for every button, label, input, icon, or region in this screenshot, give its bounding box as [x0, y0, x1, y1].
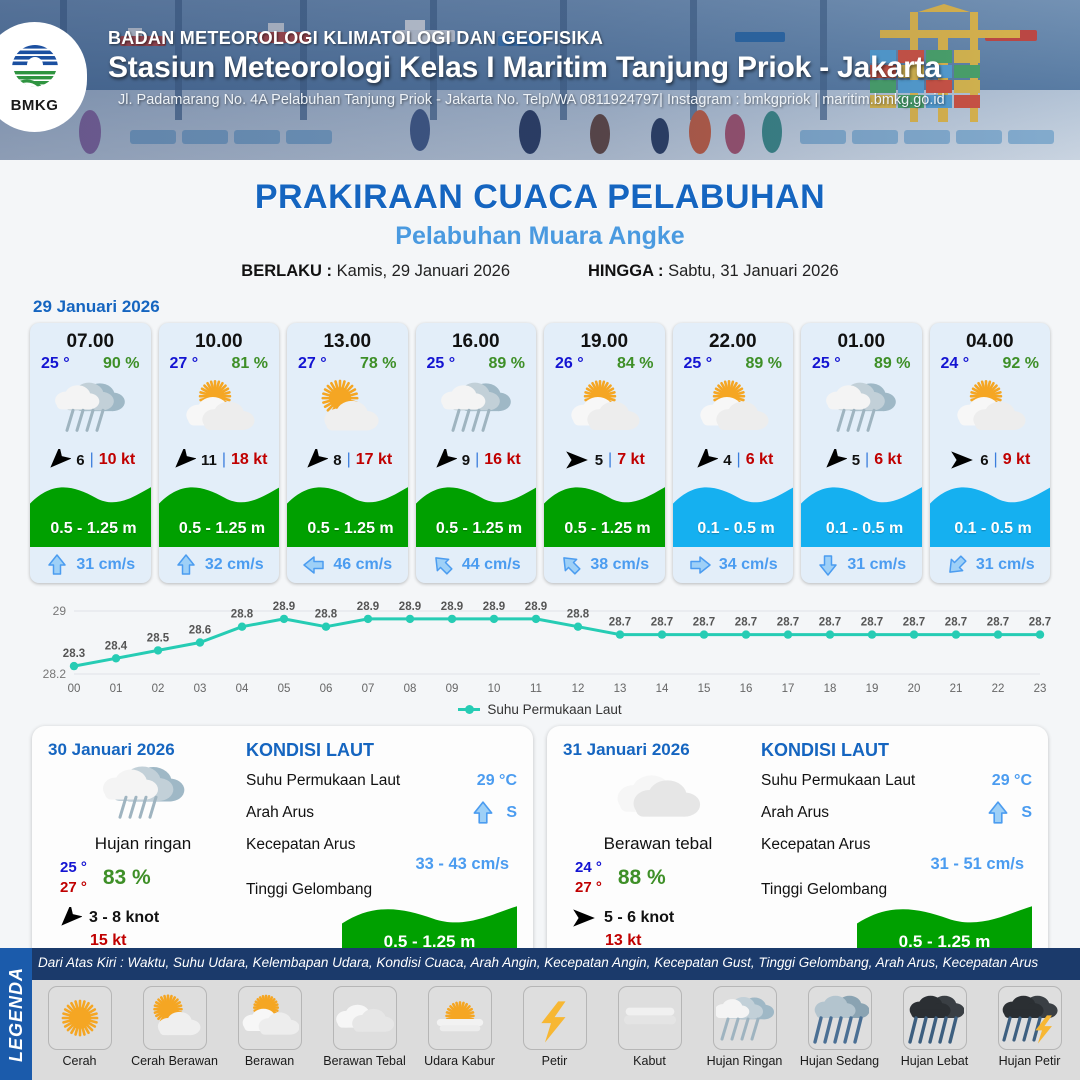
card-current-speed: 44 cm/s — [462, 556, 521, 574]
card-temperature: 24 ° — [941, 355, 970, 373]
svg-text:00: 00 — [68, 683, 81, 695]
svg-text:29: 29 — [53, 604, 67, 618]
current-direction-arrow-icon — [559, 553, 583, 577]
legend-item: Berawan Tebal — [317, 986, 412, 1068]
current-direction-arrow-icon — [688, 553, 712, 577]
card-time: 01.00 — [801, 323, 922, 353]
card-wind-separator: | — [222, 451, 226, 469]
svg-text:28.8: 28.8 — [567, 609, 590, 621]
legend-side-label: LEGENDA — [0, 948, 32, 1080]
card-time: 19.00 — [544, 323, 665, 353]
wind-direction-arrow-icon — [302, 449, 328, 471]
station-address: Jl. Padamarang No. 4A Pelabuhan Tanjung … — [118, 92, 1068, 108]
card-current: 44 cm/s — [416, 547, 537, 583]
svg-text:15: 15 — [698, 683, 711, 695]
card-current: 31 cm/s — [801, 547, 922, 583]
svg-text:21: 21 — [950, 683, 963, 695]
hujan-ringan-icon — [48, 764, 238, 828]
card-wind-speed: 7 kt — [617, 451, 645, 469]
legend-item-label: Petir — [507, 1054, 602, 1068]
hujan-ringan-icon — [713, 986, 777, 1050]
svg-text:28.3: 28.3 — [63, 648, 85, 660]
card-wind: 9 | 16 kt — [416, 445, 537, 475]
card-wind-separator: | — [994, 451, 998, 469]
card-humidity: 84 % — [617, 355, 653, 373]
current-direction-arrow-icon — [431, 553, 455, 577]
svg-text:05: 05 — [278, 683, 291, 695]
svg-text:06: 06 — [320, 683, 333, 695]
petir-icon — [523, 986, 587, 1050]
svg-text:12: 12 — [572, 683, 585, 695]
svg-text:02: 02 — [152, 683, 165, 695]
svg-text:23: 23 — [1034, 683, 1047, 695]
berawan-tebal-icon — [563, 764, 753, 828]
legend-item: Cerah Berawan — [127, 986, 222, 1068]
card-temperature: 25 ° — [427, 355, 456, 373]
card-current: 34 cm/s — [673, 547, 794, 583]
legend-item-label: Cerah — [32, 1054, 127, 1068]
current-speed-value: 33 - 43 cm/s — [246, 855, 509, 874]
current-direction-arrow-icon — [302, 553, 326, 577]
daily-wind-value: 3 - 8 knot — [89, 909, 159, 927]
current-direction-value: S — [1021, 804, 1032, 822]
legend-item-label: Kabut — [602, 1054, 697, 1068]
card-wind-separator: | — [865, 451, 869, 469]
berawan-icon — [673, 373, 794, 445]
card-wave-height: 0.1 - 0.5 m — [801, 520, 922, 538]
card-humidity: 78 % — [360, 355, 396, 373]
svg-text:01: 01 — [110, 683, 123, 695]
kabut-icon — [618, 986, 682, 1050]
svg-text:09: 09 — [446, 683, 459, 695]
current-direction-arrow-icon — [816, 553, 840, 577]
sst-chart: 29 28.2 28.328.428.528.628.828.928.828.9… — [26, 595, 1054, 700]
svg-text:28.7: 28.7 — [1029, 617, 1051, 629]
card-wave-height: 0.5 - 1.25 m — [287, 520, 408, 538]
card-wind-separator: | — [90, 451, 94, 469]
valid-until: HINGGA : Sabtu, 31 Januari 2026 — [588, 262, 839, 281]
card-wave: 0.5 - 1.25 m — [159, 477, 280, 547]
svg-text:28.7: 28.7 — [777, 617, 799, 629]
berawan-icon — [159, 373, 280, 445]
svg-text:28.7: 28.7 — [609, 617, 631, 629]
sst-label: Suhu Permukaan Laut — [761, 772, 915, 790]
card-humidity: 90 % — [103, 355, 139, 373]
daily-sea-conditions: KONDISI LAUT Suhu Permukaan Laut 29 °C A… — [753, 740, 1032, 962]
daily-temp-min: 24 ° — [575, 858, 602, 878]
hourly-card: 07.00 25 ° 90 % 6 | 10 kt — [30, 323, 151, 583]
daily-forecast-panels: 30 Januari 2026 Hujan ringan 25 ° 27 ° 8… — [0, 726, 1080, 976]
hujan-petir-icon — [998, 986, 1062, 1050]
hujan-ringan-icon — [30, 373, 151, 445]
sst-line-chart: 29 28.2 28.328.428.528.628.828.928.828.9… — [26, 595, 1054, 700]
bmkg-logo-text: BMKG — [11, 97, 59, 114]
svg-text:28.7: 28.7 — [819, 617, 841, 629]
svg-text:28.9: 28.9 — [273, 601, 295, 613]
hujan-lebat-icon — [903, 986, 967, 1050]
daily-humidity: 83 % — [103, 866, 151, 890]
sea-conditions-title: KONDISI LAUT — [246, 740, 517, 761]
legend-bar: LEGENDA Dari Atas Kiri : Waktu, Suhu Uda… — [0, 948, 1080, 1080]
card-current: 46 cm/s — [287, 547, 408, 583]
forecast-title-block: PRAKIRAAN CUACA PELABUHAN Pelabuhan Muar… — [0, 178, 1080, 281]
card-temperature: 25 ° — [812, 355, 841, 373]
daily-temp-min: 25 ° — [60, 858, 87, 878]
card-wind-speed: 16 kt — [484, 451, 520, 469]
card-humidity: 89 % — [746, 355, 782, 373]
card-wind-direction: 9 — [462, 452, 470, 469]
current-speed-label: Kecepatan Arus — [761, 836, 870, 854]
legend-item: Berawan — [222, 986, 317, 1068]
hujan-ringan-icon — [801, 373, 922, 445]
card-temperature: 27 ° — [298, 355, 327, 373]
svg-text:11: 11 — [530, 683, 542, 695]
card-current: 31 cm/s — [930, 547, 1051, 583]
sea-conditions-title: KONDISI LAUT — [761, 740, 1032, 761]
wind-direction-arrow-icon — [692, 449, 718, 471]
svg-text:28.5: 28.5 — [147, 632, 170, 644]
daily-condition: Hujan ringan — [48, 834, 238, 854]
sst-value: 29 °C — [477, 772, 517, 790]
legend-side-text: LEGENDA — [6, 966, 27, 1061]
legend-item: Petir — [507, 986, 602, 1068]
card-wind-direction: 6 — [980, 452, 988, 469]
port-name: Pelabuhan Muara Angke — [0, 222, 1080, 251]
daily-temps: 24 ° 27 ° 88 % — [563, 858, 753, 899]
daily-temp-range: 25 ° 27 ° — [60, 858, 87, 899]
agency-name: BADAN METEOROLOGI KLIMATOLOGI DAN GEOFIS… — [108, 28, 1068, 49]
card-wind-speed: 9 kt — [1003, 451, 1031, 469]
current-direction-arrow-icon — [45, 553, 69, 577]
svg-text:28.9: 28.9 — [441, 601, 463, 613]
card-humidity: 89 % — [874, 355, 910, 373]
card-wind-speed: 18 kt — [231, 451, 267, 469]
card-time: 13.00 — [287, 323, 408, 353]
daily-temp-max: 27 ° — [60, 878, 87, 898]
card-current: 38 cm/s — [544, 547, 665, 583]
wind-direction-arrow-icon — [949, 449, 975, 471]
legend-item-label: Hujan Sedang — [792, 1054, 887, 1068]
hourly-card: 19.00 26 ° 84 % 5 | 7 kt 0.5 - 1.25 m — [544, 323, 665, 583]
svg-text:28.8: 28.8 — [315, 609, 338, 621]
svg-text:28.7: 28.7 — [987, 617, 1009, 629]
hourly-card: 16.00 25 ° 89 % 9 | 16 kt — [416, 323, 537, 583]
berawan-tebal-icon — [333, 986, 397, 1050]
current-direction-label: Arah Arus — [761, 804, 829, 822]
svg-text:22: 22 — [992, 683, 1005, 695]
legend-item: Cerah — [32, 986, 127, 1068]
current-direction-value: S — [506, 804, 517, 822]
card-current: 32 cm/s — [159, 547, 280, 583]
svg-text:28.2: 28.2 — [43, 667, 67, 681]
card-temperature: 27 ° — [170, 355, 199, 373]
valid-from-label: BERLAKU : — [241, 262, 332, 280]
card-wind: 5 | 6 kt — [801, 445, 922, 475]
card-wave: 0.1 - 0.5 m — [930, 477, 1051, 547]
card-wind-separator: | — [475, 451, 479, 469]
svg-text:13: 13 — [614, 683, 627, 695]
daily-forecast-panel: 30 Januari 2026 Hujan ringan 25 ° 27 ° 8… — [32, 726, 533, 976]
legend-item: Hujan Sedang — [792, 986, 887, 1068]
current-direction-label: Arah Arus — [246, 804, 314, 822]
card-time: 16.00 — [416, 323, 537, 353]
current-direction-arrow-icon — [985, 800, 1011, 826]
daily-sea-conditions: KONDISI LAUT Suhu Permukaan Laut 29 °C A… — [238, 740, 517, 962]
legend-item-label: Hujan Lebat — [887, 1054, 982, 1068]
daily-left: 31 Januari 2026 Berawan tebal 24 ° 27 ° … — [563, 740, 753, 962]
card-wind: 6 | 10 kt — [30, 445, 151, 475]
wind-direction-arrow-icon — [564, 449, 590, 471]
card-wave-height: 0.5 - 1.25 m — [416, 520, 537, 538]
berawan-icon — [544, 373, 665, 445]
card-wind-direction: 11 — [201, 452, 217, 469]
valid-until-label: HINGGA : — [588, 262, 663, 280]
card-wave-height: 0.1 - 0.5 m — [673, 520, 794, 538]
hourly-card: 13.00 27 ° 78 % 8 | 17 kt 0.5 - 1.25 m — [287, 323, 408, 583]
wind-direction-arrow-icon — [56, 907, 82, 929]
daily-condition: Berawan tebal — [563, 834, 753, 854]
wind-direction-arrow-icon — [821, 449, 847, 471]
hourly-card: 04.00 24 ° 92 % 6 | 9 kt 0.1 - 0.5 m — [930, 323, 1051, 583]
daily-wind: 3 - 8 knot — [48, 907, 238, 929]
card-humidity: 89 % — [489, 355, 525, 373]
page-header: BMKG BADAN METEOROLOGI KLIMATOLOGI DAN G… — [0, 0, 1080, 160]
bmkg-logo-mark — [8, 41, 62, 95]
page-title: PRAKIRAAN CUACA PELABUHAN — [0, 178, 1080, 217]
cerah-berawan-icon — [287, 373, 408, 445]
card-wind-speed: 10 kt — [99, 451, 135, 469]
daily-date: 30 Januari 2026 — [48, 740, 238, 760]
legend-item: Udara Kabur — [412, 986, 507, 1068]
sst-row: Suhu Permukaan Laut 29 °C — [761, 765, 1032, 797]
svg-text:28.7: 28.7 — [945, 617, 967, 629]
card-wind: 8 | 17 kt — [287, 445, 408, 475]
card-wave: 0.5 - 1.25 m — [30, 477, 151, 547]
station-name: Stasiun Meteorologi Kelas I Maritim Tanj… — [108, 51, 1068, 85]
svg-text:07: 07 — [362, 683, 375, 695]
hujan-sedang-icon — [808, 986, 872, 1050]
daily-date: 31 Januari 2026 — [563, 740, 753, 760]
card-wind-speed: 6 kt — [874, 451, 902, 469]
card-wind: 11 | 18 kt — [159, 445, 280, 475]
svg-text:08: 08 — [404, 683, 417, 695]
daily-gust: 13 kt — [563, 932, 753, 950]
card-wind-separator: | — [737, 451, 741, 469]
card-current: 31 cm/s — [30, 547, 151, 583]
card-current-speed: 31 cm/s — [76, 556, 135, 574]
legend-item: Hujan Lebat — [887, 986, 982, 1068]
legend-series-name: Suhu Permukaan Laut — [487, 702, 621, 717]
legend-line-marker — [458, 708, 480, 711]
header-titles: BADAN METEOROLOGI KLIMATOLOGI DAN GEOFIS… — [108, 28, 1068, 108]
card-wind: 6 | 9 kt — [930, 445, 1051, 475]
card-humidity: 81 % — [232, 355, 268, 373]
legend-items: Cerah Cerah Berawan Berawan Berawan Teba… — [32, 980, 1080, 1080]
daily-humidity: 88 % — [618, 866, 666, 890]
svg-text:20: 20 — [908, 683, 921, 695]
legend-item: Kabut — [602, 986, 697, 1068]
card-time: 07.00 — [30, 323, 151, 353]
svg-text:10: 10 — [488, 683, 501, 695]
legend-item-label: Hujan Petir — [982, 1054, 1077, 1068]
hourly-card: 01.00 25 ° 89 % 5 | 6 kt 0 — [801, 323, 922, 583]
svg-text:17: 17 — [782, 683, 795, 695]
wind-direction-arrow-icon — [45, 449, 71, 471]
current-direction-arrow-icon — [945, 553, 969, 577]
current-direction-row: Arah Arus S — [761, 797, 1032, 829]
card-wave-height: 0.5 - 1.25 m — [544, 520, 665, 538]
svg-text:04: 04 — [236, 683, 249, 695]
svg-text:28.9: 28.9 — [525, 601, 547, 613]
legend-item-label: Cerah Berawan — [127, 1054, 222, 1068]
card-wave: 0.5 - 1.25 m — [416, 477, 537, 547]
daily-left: 30 Januari 2026 Hujan ringan 25 ° 27 ° 8… — [48, 740, 238, 962]
card-wind-direction: 4 — [723, 452, 731, 469]
hourly-card: 10.00 27 ° 81 % 11 | 18 kt 0.5 - 1.25 m — [159, 323, 280, 583]
svg-text:28.7: 28.7 — [651, 617, 673, 629]
berawan-icon — [930, 373, 1051, 445]
card-temperature: 25 ° — [41, 355, 70, 373]
daily-temp-max: 27 ° — [575, 878, 602, 898]
card-current-speed: 46 cm/s — [333, 556, 392, 574]
card-time: 22.00 — [673, 323, 794, 353]
card-wind-direction: 5 — [595, 452, 603, 469]
card-current-speed: 32 cm/s — [205, 556, 264, 574]
berawan-icon — [238, 986, 302, 1050]
card-wind-separator: | — [608, 451, 612, 469]
wind-direction-arrow-icon — [170, 449, 196, 471]
svg-text:28.9: 28.9 — [483, 601, 505, 613]
valid-from-value: Kamis, 29 Januari 2026 — [337, 262, 510, 280]
legend-item-label: Berawan — [222, 1054, 317, 1068]
svg-text:28.9: 28.9 — [357, 601, 379, 613]
svg-text:28.7: 28.7 — [903, 617, 925, 629]
card-wave: 0.5 - 1.25 m — [287, 477, 408, 547]
hourly-card: 22.00 25 ° 89 % 4 | 6 kt 0.1 - 0.5 m — [673, 323, 794, 583]
card-wave: 0.5 - 1.25 m — [544, 477, 665, 547]
daily-wind: 5 - 6 knot — [563, 907, 753, 929]
card-temperature: 25 ° — [684, 355, 713, 373]
daily-gust: 15 kt — [48, 932, 238, 950]
card-wind-separator: | — [347, 451, 351, 469]
card-wave: 0.1 - 0.5 m — [673, 477, 794, 547]
card-current-speed: 31 cm/s — [847, 556, 906, 574]
card-wind-direction: 8 — [333, 452, 341, 469]
card-temperature: 26 ° — [555, 355, 584, 373]
svg-text:28.7: 28.7 — [693, 617, 715, 629]
legend-item-label: Hujan Ringan — [697, 1054, 792, 1068]
svg-text:03: 03 — [194, 683, 207, 695]
current-direction-arrow-icon — [470, 800, 496, 826]
svg-text:16: 16 — [740, 683, 753, 695]
current-direction-row: Arah Arus S — [246, 797, 517, 829]
valid-from: BERLAKU : Kamis, 29 Januari 2026 — [241, 262, 510, 281]
svg-text:19: 19 — [866, 683, 879, 695]
svg-text:14: 14 — [656, 683, 669, 695]
card-time: 10.00 — [159, 323, 280, 353]
udara-kabur-icon — [428, 986, 492, 1050]
sst-label: Suhu Permukaan Laut — [246, 772, 400, 790]
card-wind-speed: 17 kt — [356, 451, 392, 469]
legend-item: Hujan Petir — [982, 986, 1077, 1068]
hourly-forecast-cards: 07.00 25 ° 90 % 6 | 10 kt — [0, 323, 1080, 583]
daily-wind-value: 5 - 6 knot — [604, 909, 674, 927]
svg-text:18: 18 — [824, 683, 837, 695]
current-speed-value: 31 - 51 cm/s — [761, 855, 1024, 874]
card-time: 04.00 — [930, 323, 1051, 353]
card-wave-height: 0.5 - 1.25 m — [30, 520, 151, 538]
card-current-speed: 31 cm/s — [976, 556, 1035, 574]
svg-text:28.7: 28.7 — [735, 617, 757, 629]
current-direction-value-wrap: S — [985, 800, 1032, 826]
validity-row: BERLAKU : Kamis, 29 Januari 2026 HINGGA … — [0, 262, 1080, 281]
hourly-date-label: 29 Januari 2026 — [33, 297, 1080, 317]
daily-forecast-panel: 31 Januari 2026 Berawan tebal 24 ° 27 ° … — [547, 726, 1048, 976]
svg-text:28.4: 28.4 — [105, 640, 128, 652]
legend-item-label: Berawan Tebal — [317, 1054, 412, 1068]
hujan-ringan-icon — [416, 373, 537, 445]
svg-text:28.7: 28.7 — [861, 617, 883, 629]
card-wind-direction: 6 — [76, 452, 84, 469]
cerah-berawan-icon — [143, 986, 207, 1050]
legend-item: Hujan Ringan — [697, 986, 792, 1068]
current-direction-arrow-icon — [174, 553, 198, 577]
wind-direction-arrow-icon — [571, 907, 597, 929]
cerah-icon — [48, 986, 112, 1050]
sst-value: 29 °C — [992, 772, 1032, 790]
legend-note: Dari Atas Kiri : Waktu, Suhu Udara, Kele… — [38, 955, 1078, 970]
sst-chart-legend: Suhu Permukaan Laut — [0, 702, 1080, 717]
card-wind-direction: 5 — [852, 452, 860, 469]
card-humidity: 92 % — [1003, 355, 1039, 373]
sst-row: Suhu Permukaan Laut 29 °C — [246, 765, 517, 797]
card-wave: 0.1 - 0.5 m — [801, 477, 922, 547]
card-wind: 5 | 7 kt — [544, 445, 665, 475]
svg-text:28.8: 28.8 — [231, 609, 254, 621]
card-wind-speed: 6 kt — [746, 451, 774, 469]
valid-until-value: Sabtu, 31 Januari 2026 — [668, 262, 839, 280]
wind-direction-arrow-icon — [431, 449, 457, 471]
legend-item-label: Udara Kabur — [412, 1054, 507, 1068]
card-current-speed: 38 cm/s — [590, 556, 649, 574]
wave-height-label: Tinggi Gelombang — [761, 881, 887, 899]
daily-temps: 25 ° 27 ° 83 % — [48, 858, 238, 899]
svg-text:28.6: 28.6 — [189, 625, 211, 637]
daily-temp-range: 24 ° 27 ° — [575, 858, 602, 899]
card-current-speed: 34 cm/s — [719, 556, 778, 574]
svg-text:28.9: 28.9 — [399, 601, 421, 613]
card-wave-height: 0.1 - 0.5 m — [930, 520, 1051, 538]
current-direction-value-wrap: S — [470, 800, 517, 826]
wave-height-label: Tinggi Gelombang — [246, 881, 372, 899]
current-speed-label: Kecepatan Arus — [246, 836, 355, 854]
card-wave-height: 0.5 - 1.25 m — [159, 520, 280, 538]
card-wind: 4 | 6 kt — [673, 445, 794, 475]
